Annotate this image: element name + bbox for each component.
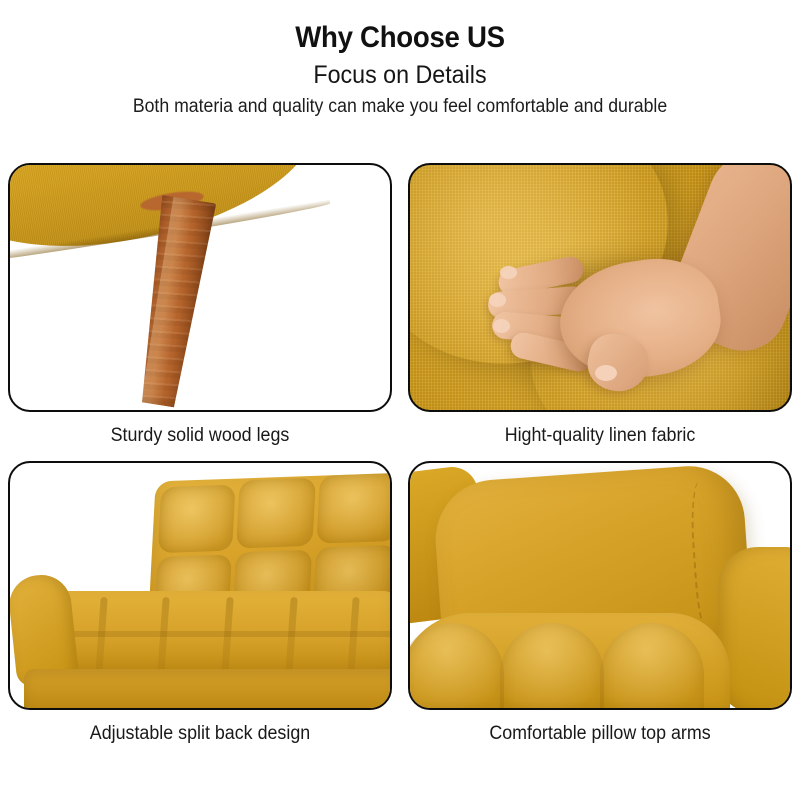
- tuft-square-2: [236, 478, 316, 549]
- fingernail-ring-shape: [493, 319, 510, 333]
- caption-pillow-arms: Comfortable pillow top arms: [420, 710, 781, 759]
- page-title: Why Choose US: [32, 22, 768, 54]
- seat-cushion-segment-1: [408, 623, 504, 710]
- feature-cell-linen-fabric: Hight-quality linen fabric: [408, 163, 792, 461]
- seat-cushion-segment-2: [500, 623, 604, 710]
- fingernail-index-shape: [500, 266, 517, 279]
- photo-linen-fabric: [408, 163, 792, 412]
- feature-cell-sturdy-legs: Sturdy solid wood legs: [8, 163, 392, 461]
- page-subtitle: Focus on Details: [28, 62, 772, 88]
- seat-cushion-segment-3: [600, 623, 704, 710]
- seat-horizontal-seam: [20, 631, 392, 637]
- caption-split-back: Adjustable split back design: [20, 710, 381, 759]
- feature-cell-pillow-arms: Comfortable pillow top arms: [408, 461, 792, 759]
- photo-pillow-arms: [408, 461, 792, 710]
- thumbnail-shape: [595, 365, 617, 381]
- caption-sturdy-legs: Sturdy solid wood legs: [20, 412, 381, 461]
- page-header: Why Choose US Focus on Details Both mate…: [0, 0, 800, 117]
- feature-panel-grid: Sturdy solid wood legs Hight-quality lin…: [8, 163, 792, 759]
- tuft-square-1: [158, 485, 236, 554]
- tuft-square-3: [316, 473, 392, 544]
- page-tagline: Both materia and quality can make you fe…: [28, 97, 772, 117]
- fingernail-middle-shape: [489, 293, 506, 307]
- seat-front-shape: [408, 613, 730, 710]
- photo-sturdy-legs: [8, 163, 392, 412]
- caption-linen-fabric: Hight-quality linen fabric: [420, 412, 781, 461]
- sofa-base-plinth-shape: [24, 669, 392, 710]
- feature-cell-split-back: Adjustable split back design: [8, 461, 392, 759]
- photo-split-back: [8, 461, 392, 710]
